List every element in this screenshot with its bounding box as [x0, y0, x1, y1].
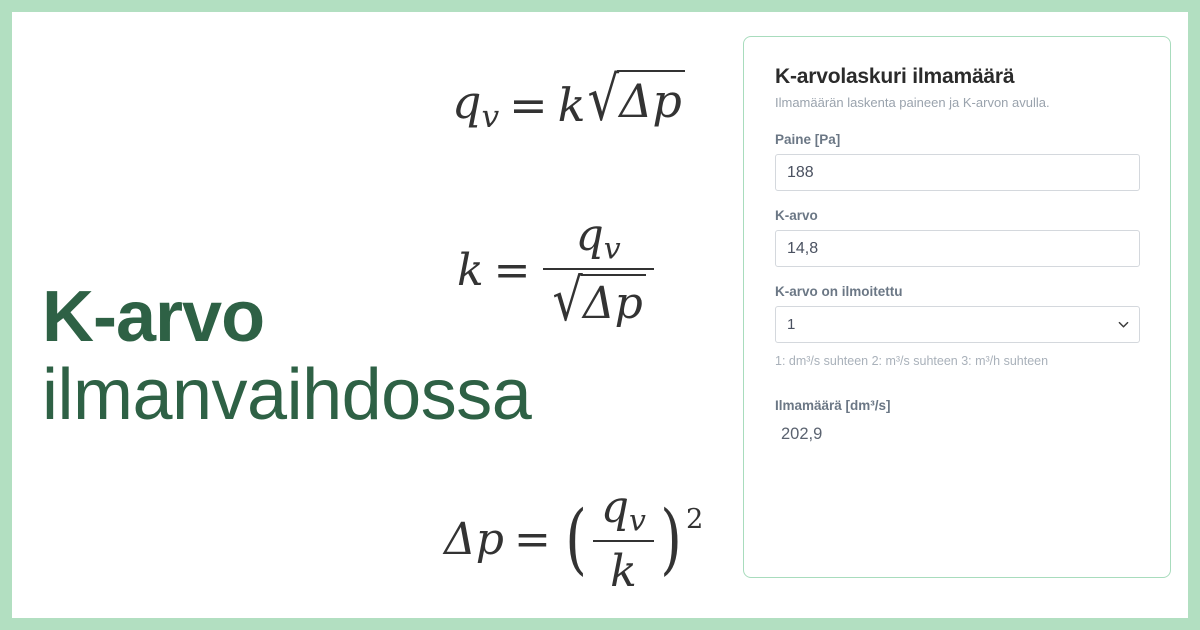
formula-2-equals: = — [494, 245, 531, 296]
formula-k-from-flow: k=qv√Δp — [457, 210, 656, 330]
formula-3-fraction: qvk — [593, 482, 654, 597]
unit-select-label: K-arvo on ilmoitettu — [775, 284, 1140, 299]
formula-1-equals: = — [509, 78, 548, 132]
pressure-input[interactable] — [775, 154, 1140, 191]
formula-2-numerator: qv — [543, 210, 654, 270]
unit-select-block: K-arvo on ilmoitettu 1 1: dm³/s suhteen … — [775, 284, 1140, 368]
formula-2-denominator: √Δp — [543, 270, 654, 330]
calculator-card: K-arvolaskuri ilmamäärä Ilmamäärän laske… — [743, 36, 1171, 578]
left-pane: K-arvo ilmanvaihdossa qv=k√Δp k=qv√Δp Δp… — [12, 12, 742, 618]
pressure-field-block: Paine [Pa] — [775, 132, 1140, 191]
kvalue-label: K-arvo — [775, 208, 1140, 223]
formula-2-fraction: qv√Δp — [543, 210, 654, 330]
unit-select[interactable]: 1 — [775, 306, 1140, 343]
formula-2-lhs: k — [457, 245, 484, 296]
result-value: 202,9 — [781, 425, 1140, 444]
formula-3-paren-close: ) — [660, 507, 682, 572]
calculator-title: K-arvolaskuri ilmamäärä — [775, 65, 1140, 89]
calculator-subtitle: Ilmamäärän laskenta paineen ja K-arvon a… — [775, 95, 1140, 110]
poster-canvas: K-arvo ilmanvaihdossa qv=k√Δp k=qv√Δp Δp… — [0, 0, 1200, 630]
formula-1-lhs: qv — [452, 75, 499, 135]
pressure-label: Paine [Pa] — [775, 132, 1140, 147]
page-title-line-2: ilmanvaihdossa — [42, 359, 531, 432]
formula-3-denominator: k — [593, 542, 654, 597]
kvalue-input[interactable] — [775, 230, 1140, 267]
formula-1-radicand: Δp — [617, 70, 685, 128]
result-label: Ilmamäärä [dm³/s] — [775, 398, 1140, 413]
formula-3-numerator: qv — [593, 482, 654, 542]
formula-3-equals: = — [514, 514, 551, 565]
formula-1-k: k — [558, 78, 586, 132]
formula-pressure-from-flow-and-k: Δp=(qvk)2 — [444, 482, 703, 597]
formula-1-radical: √Δp — [586, 70, 685, 129]
radical-sign-icon: √ — [553, 268, 583, 335]
formula-3-exponent: 2 — [686, 504, 703, 535]
formula-3-lhs: Δp — [444, 514, 504, 565]
formula-3-paren-open: ( — [565, 507, 587, 572]
unit-helper-text: 1: dm³/s suhteen 2: m³/s suhteen 3: m³/h… — [775, 354, 1140, 368]
unit-select-wrapper[interactable]: 1 — [775, 306, 1140, 343]
kvalue-field-block: K-arvo — [775, 208, 1140, 267]
formula-flow-from-k: qv=k√Δp — [452, 70, 685, 135]
radical-sign-icon: √ — [588, 63, 620, 134]
